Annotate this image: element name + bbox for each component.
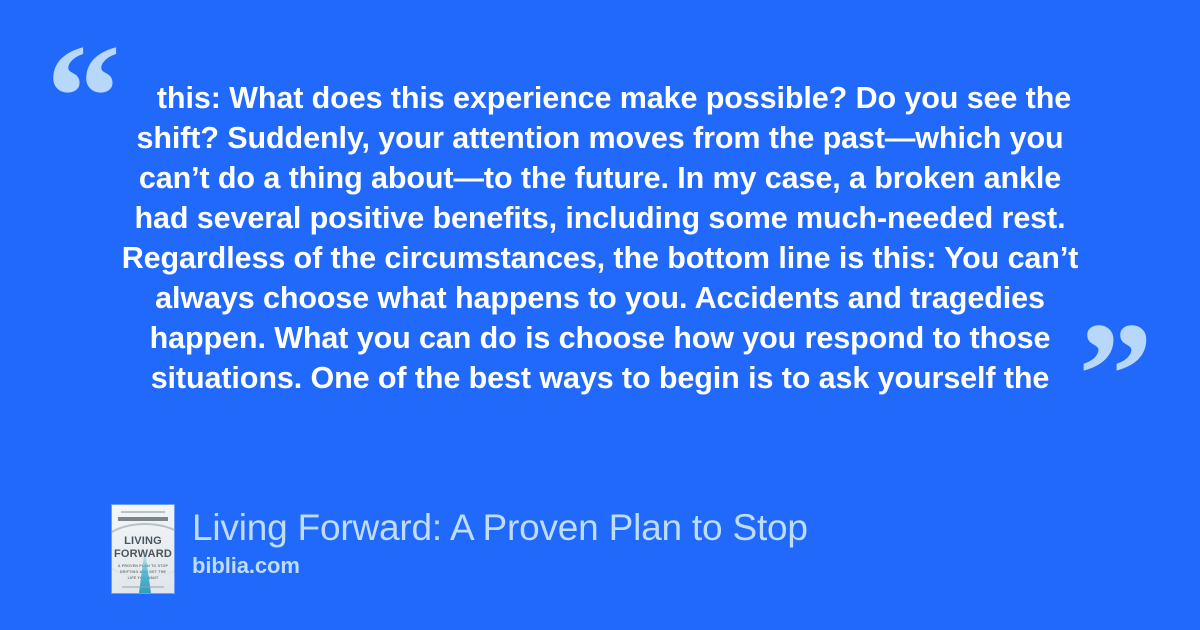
book-title[interactable]: Living Forward: A Proven Plan to Stop (192, 507, 808, 549)
book-cover-title: LIVING FORWARD (112, 535, 174, 560)
closing-quote-icon: ” (1078, 300, 1150, 450)
quote-text: this: What does this experience make pos… (110, 78, 1090, 398)
book-cover-authors (118, 517, 168, 521)
site-name[interactable]: biblia.com (192, 553, 808, 579)
book-cover-title-line-2: FORWARD (114, 548, 172, 560)
quote-block: this: What does this experience make pos… (110, 78, 1090, 398)
footer-text: Living Forward: A Proven Plan to Stop bi… (192, 505, 808, 579)
footer: LIVING FORWARD A PROVEN PLAN TO STOP DRI… (112, 505, 808, 593)
quote-card: “ this: What does this experience make p… (0, 0, 1200, 630)
book-cover-thumbnail[interactable]: LIVING FORWARD A PROVEN PLAN TO STOP DRI… (112, 505, 174, 593)
book-cover-top-rule (121, 511, 165, 513)
book-cover-title-line-1: LIVING (124, 535, 162, 547)
opening-quote-icon: “ (46, 22, 118, 172)
book-cover-bottom-rule (122, 586, 164, 588)
